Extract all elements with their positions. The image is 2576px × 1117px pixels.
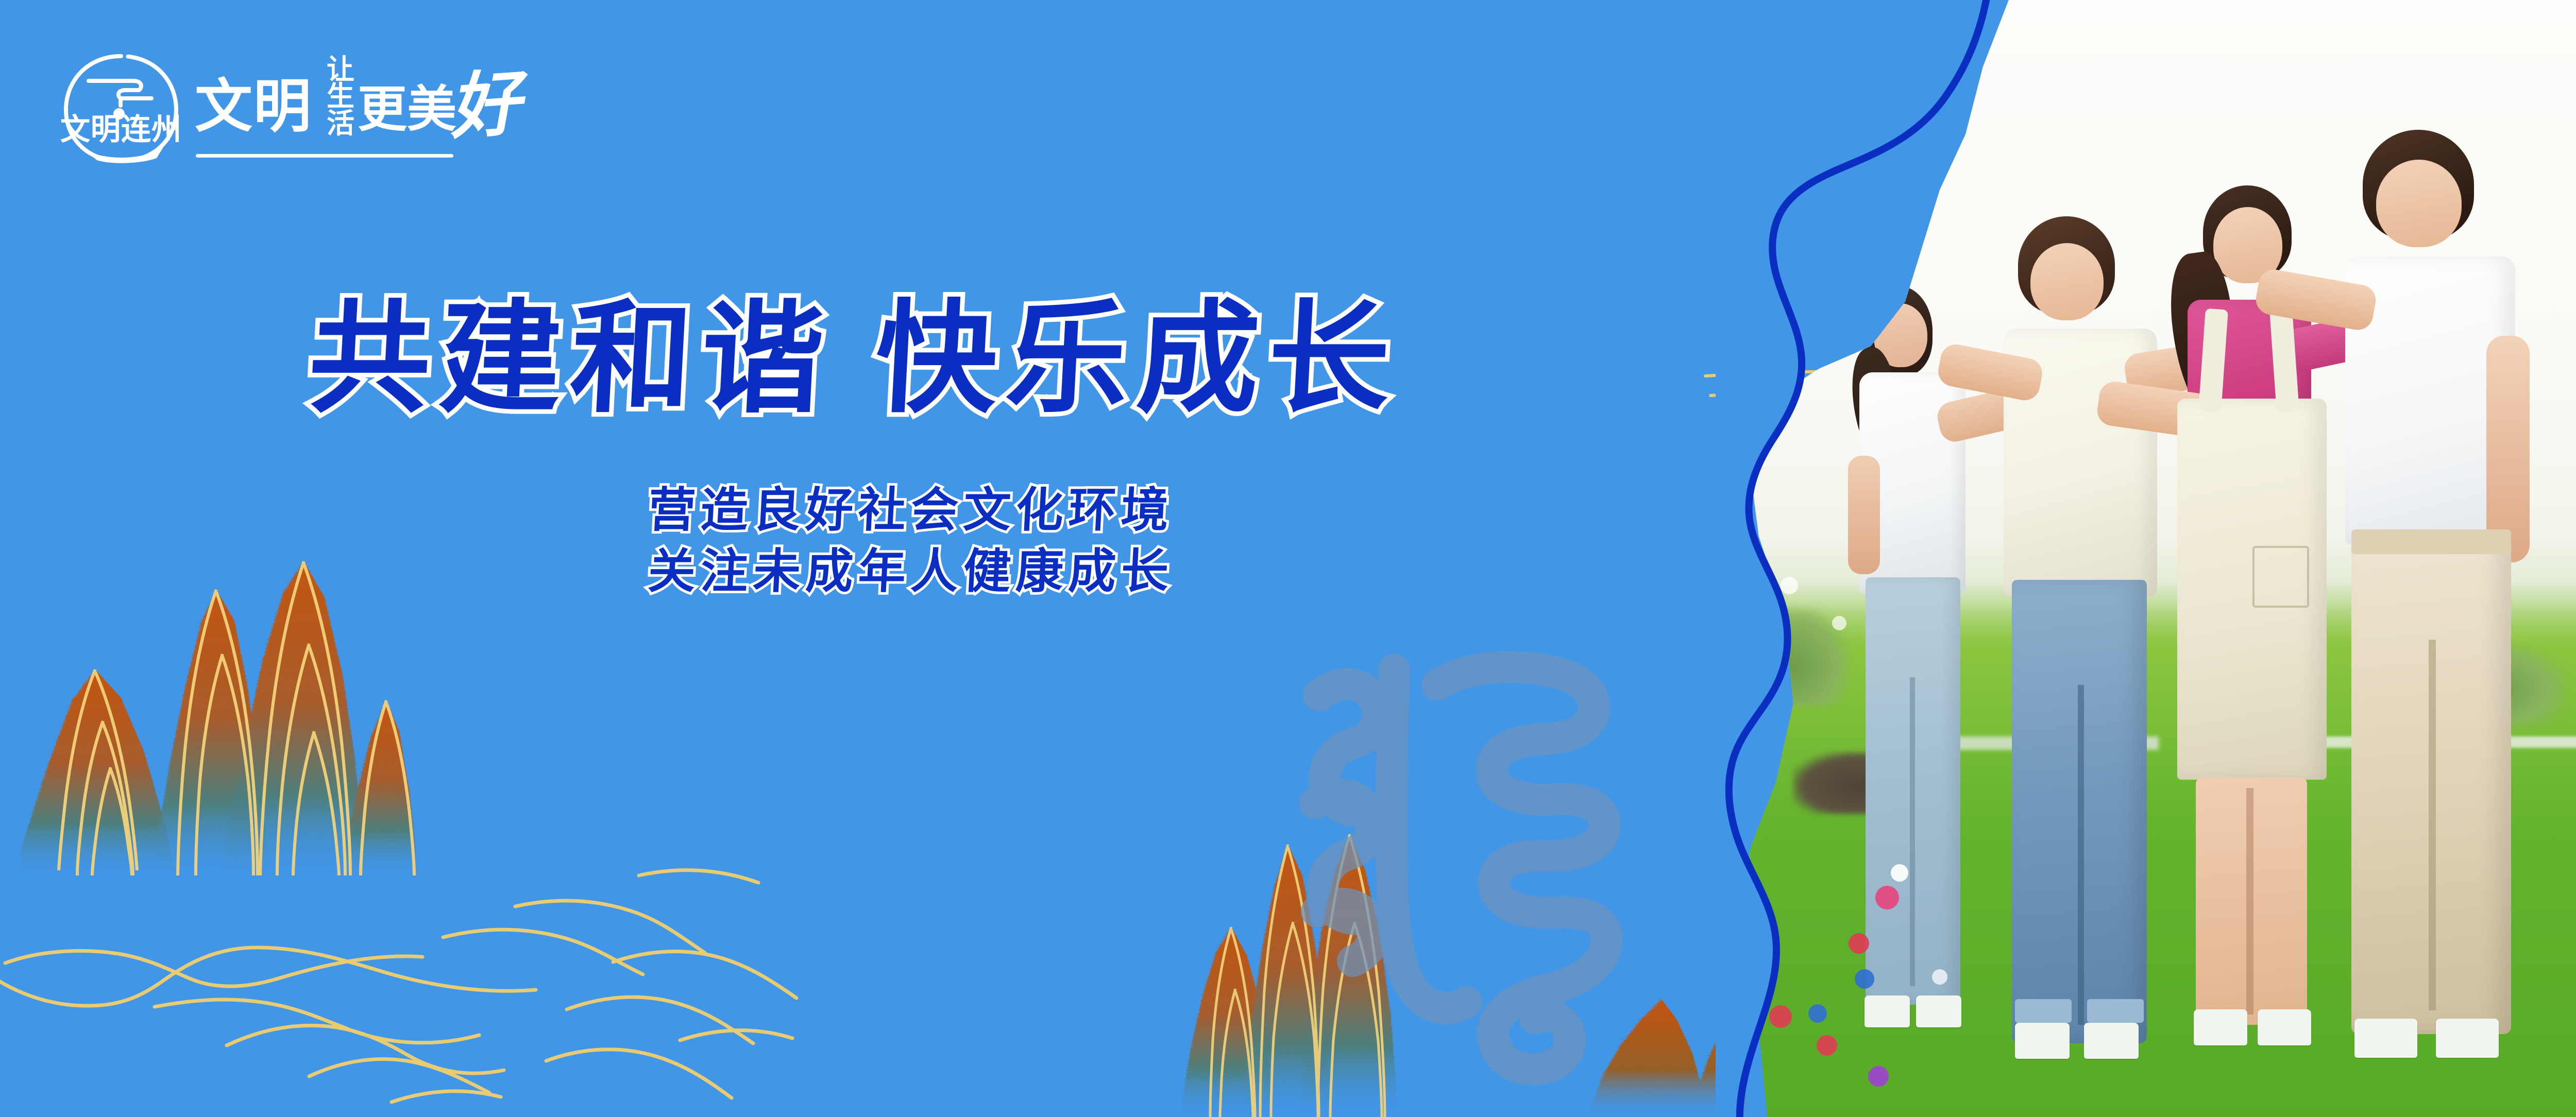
child4-right-arm [2486,336,2530,562]
gold-ripple-lines [0,870,796,1102]
child4-shoe-right [2436,1019,2499,1058]
child3-leg-split [2246,788,2253,1015]
confetti-dot-white-2 [1758,940,1774,957]
confetti-dot-blue-1 [1855,969,1874,989]
confetti-dot-blue-2 [1808,1004,1827,1023]
child1-leg-split [1910,677,1915,986]
child2-jeans-cuff-l [2015,999,2072,1023]
slogan-stack-3: 活 [325,110,357,138]
slogan-end: 好 [447,68,522,144]
child1-shoe-right [1916,995,1961,1027]
slogan-underline [196,154,453,158]
subtitle-block: 营造良好社会文化环境 关注未成年人健康成长 [648,484,1174,598]
child4-leg-split [2429,640,2436,1010]
child2-leg-split [2078,685,2084,1025]
child3-shoe-left [2194,1009,2247,1045]
child2-head [2030,243,2104,320]
confetti-dot-red-2 [1769,1005,1792,1028]
confetti-dot-red-1 [1849,933,1869,954]
child3-dress-pocket [2252,546,2309,608]
photo-image [1716,0,2576,1117]
slogan-mid: 更美 [358,85,456,134]
logo-lockup[interactable]: 文明连州 文明 让 生 活 更美 好 [57,49,603,167]
child1-shoe-left [1865,995,1910,1027]
emblem-text: 文明连州 [59,115,183,145]
child2-jeans-cuff-r [2087,999,2144,1023]
confetti-dot-white-1 [1891,864,1908,882]
confetti-dot-white-3 [1932,969,1947,985]
subtitle-line-2: 关注未成年人健康成长 [647,545,1175,598]
subtitle-line-1: 营造良好社会文化环境 [647,484,1175,537]
confetti-dot-purple-1 [1868,1066,1889,1087]
child4-shoe-left [2354,1019,2417,1058]
slogan-stack-2: 生 [325,83,357,110]
headline-block: 共建和谐 快乐成长 [309,294,1700,425]
child-boy-white-tee [2334,130,2540,1098]
slogan-stack: 让 生 活 [325,56,357,138]
wenming-lianzhou-emblem[interactable]: 文明连州 [57,49,185,167]
slogan-main: 文明 [195,78,312,135]
confetti-dot-red-3 [1817,1035,1837,1056]
child1-left-arm [1848,456,1880,574]
confetti-dot-white-5 [1832,616,1846,630]
poster-canvas: 文明连州 文明 让 生 活 更美 好 共建和谐 快乐成长 营造良好社会文化环境 … [0,0,2576,1117]
child4-waistband [2351,529,2511,554]
child2-shoe-left [2015,1023,2070,1059]
child3-shoe-right [2258,1009,2311,1045]
logo-slogan: 文明 让 生 活 更美 好 [195,53,514,164]
child4-head [2376,160,2462,247]
confetti-dot-pink-1 [1875,886,1899,909]
child-girl-white-tee [1847,286,1991,1089]
page-title: 共建和谐 快乐成长 [306,294,1703,425]
child2-shoe-right [2084,1023,2139,1059]
slogan-stack-1: 让 [325,56,357,83]
confetti-dot-white-4 [1781,577,1798,594]
mountain-cluster-bottom-center [1180,834,1398,1117]
child-boy-cream-tee [1996,216,2172,1092]
four-children-back-view-photo [1716,0,2576,1117]
background-tree-trunk [1765,669,1772,736]
